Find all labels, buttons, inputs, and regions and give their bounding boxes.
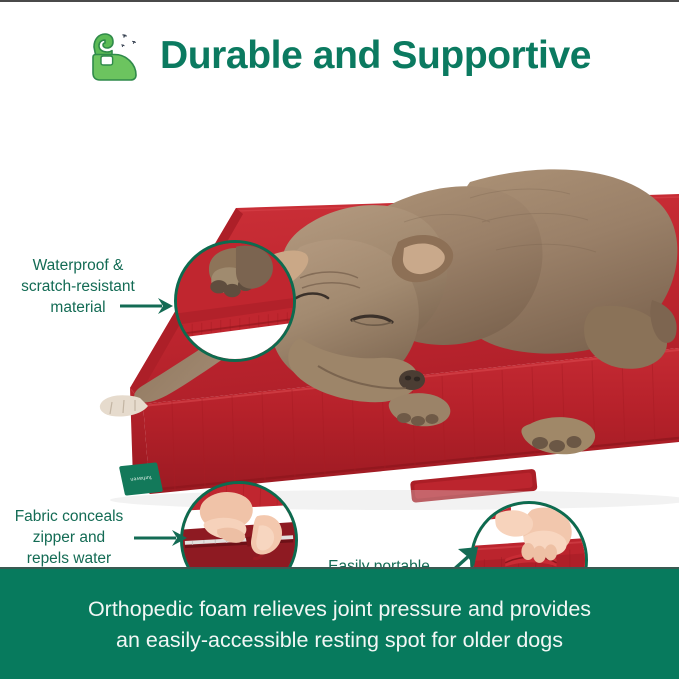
header: Durable and Supportive xyxy=(0,16,679,96)
product-infographic: Durable and Supportive xyxy=(0,0,679,679)
right-arrow-icon xyxy=(132,527,190,549)
bottom-banner: Orthopedic foam relieves joint pressure … xyxy=(0,567,679,679)
banner-line-1: Orthopedic foam relieves joint pressure … xyxy=(88,594,591,625)
flexed-bicep-icon xyxy=(88,27,146,85)
page-title: Durable and Supportive xyxy=(160,34,591,78)
banner-line-2: an easily-accessible resting spot for ol… xyxy=(116,625,563,656)
sleeping-dog-image xyxy=(0,102,679,567)
brand-tag-label: furhaven xyxy=(121,473,160,483)
brand-tag: furhaven xyxy=(119,462,163,495)
fabric-closeup-inset xyxy=(174,240,296,362)
callout-zipper-line1: Fabric conceals xyxy=(4,507,134,528)
right-arrow-icon xyxy=(118,295,176,317)
callout-zipper-line2: zipper and xyxy=(4,528,134,549)
product-photo: furhaven xyxy=(0,102,679,567)
callout-waterproof-line1: Waterproof & xyxy=(12,256,144,277)
callout-zipper: Fabric conceals zipper and repels water xyxy=(4,507,134,569)
